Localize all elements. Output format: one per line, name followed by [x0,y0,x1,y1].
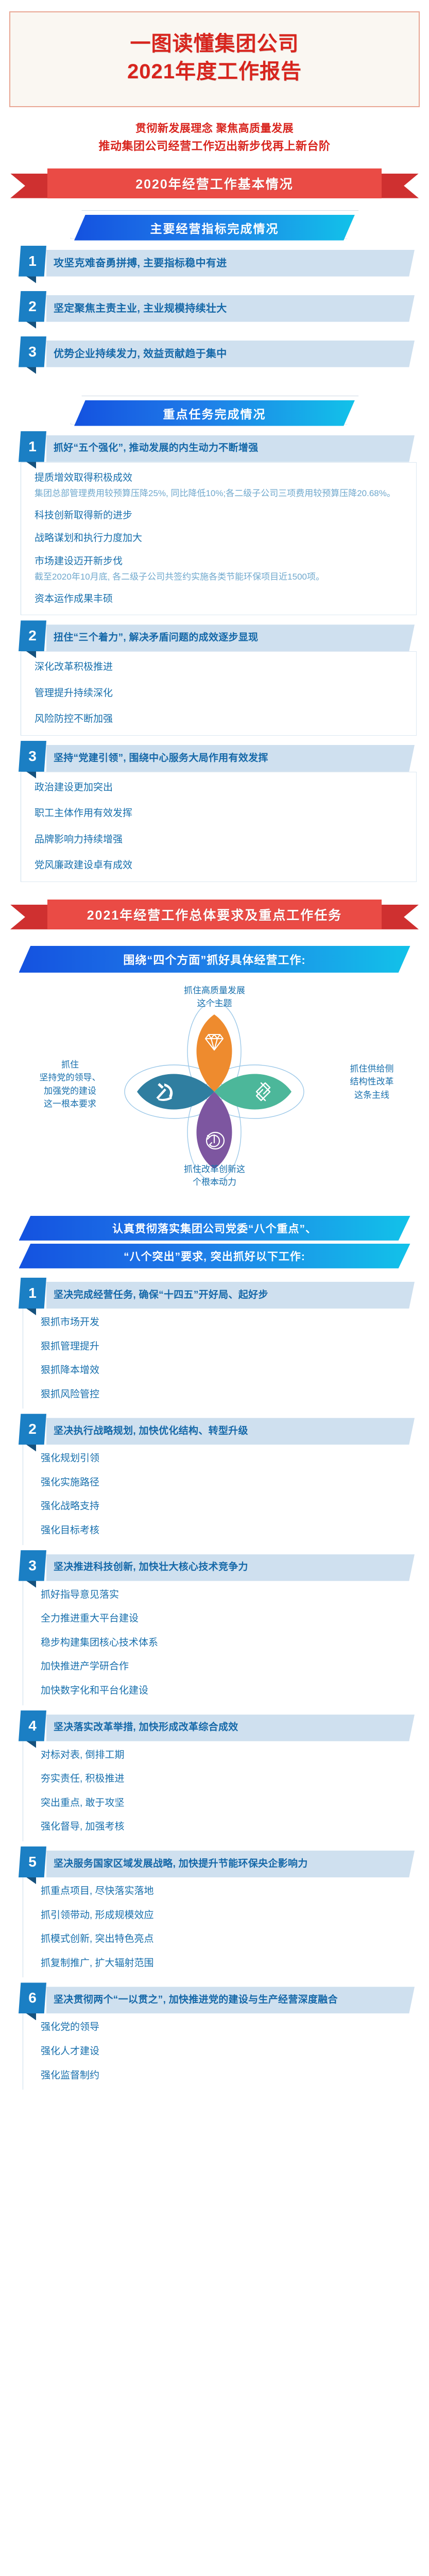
key-task-3: 3 坚持“党建引领”, 围绕中心服务大局作用有效发挥 政治建设更加突出 职工主体… [0,745,429,882]
work-task-6: 6 坚决贯彻两个“一以贯之”, 加快推进党的建设与生产经营深度融合 强化党的领导… [0,1987,429,2090]
key-task-2-label: 扭住“三个着力”, 解决矛盾问题的成效逐步显现 [54,632,258,645]
kpi-heading-label: 主要经营指标完成情况 [150,219,279,236]
detail-title: 市场建设迈开新步伐 [35,554,406,569]
work-task-2-number: 2 [19,1414,46,1445]
kpi-item-3: 3 优势企业持续发力, 效益贡献趋于集中 [0,341,429,367]
subtitle-line2: 推动集团公司经营工作迈出新步伐再上新台阶 [12,138,417,155]
work-task-5-label: 坚决服务国家区域发展战略, 加快提升节能环保央企影响力 [54,1858,308,1871]
infographic-page: 一图读懂集团公司 2021年度工作报告 贯彻新发展理念 聚焦高质量发展 推动集团… [0,11,429,2097]
work-task-1-label: 坚决完成经营任务, 确保“十四五”开好局、起好步 [54,1289,268,1302]
kpi-item-3-number: 3 [19,336,46,367]
list-item: 抓好指导意见落实 [41,1588,415,1602]
detail-title: 科技创新取得新的进步 [35,509,406,523]
key-task-2-details: 深化改革积极推进 管理提升持续深化 风险防控不断加强 [21,651,417,736]
list-item: 加快数字化和平台化建设 [41,1684,415,1698]
key-task-3-number: 3 [19,741,46,772]
key-task-1-label: 抓好“五个强化”, 推动发展的内生动力不断增强 [54,442,258,455]
kpi-item-1-number: 1 [19,246,46,277]
work-task-5-number: 5 [19,1846,46,1877]
detail-title: 深化改革积极推进 [35,660,406,675]
work-task-3-label: 坚决推进科技创新, 加快壮大核心技术竞争力 [54,1561,248,1574]
petal-bottom [197,1092,232,1169]
section-ribbon-2021: 2021年经营工作总体要求及重点工作任务 [0,900,429,930]
work-task-3-number: 3 [19,1550,46,1581]
key-task-1: 1 抓好“五个强化”, 推动发展的内生动力不断增强 提质增效取得积极成效 集团总… [0,435,429,616]
work-task-4-label: 坚决落实改革举措, 加快形成改革综合成效 [54,1721,238,1734]
detail-title: 职工主体作用有效发挥 [35,806,406,821]
petal-label-left: 抓住 坚持党的领导、 加强党的建设 这一根本要求 [13,1058,127,1111]
kpi-item-2: 2 坚定聚焦主责主业, 主业规模持续壮大 [0,295,429,322]
key-task-1-details: 提质增效取得积极成效 集团总部管理费用较预算压降25%, 同比降低10%;各二级… [21,462,417,616]
detail-body: 集团总部管理费用较预算压降25%, 同比降低10%;各二级子公司三项费用较预算压… [35,487,406,500]
list-item: 突出重点, 敢于攻坚 [41,1797,415,1810]
ribbon-body: 2020年经营工作基本情况 [47,168,382,198]
work-task-2-label: 坚决执行战略规划, 加快优化结构、转型升级 [54,1425,248,1438]
list-item: 加快推进产学研合作 [41,1660,415,1674]
detail-title: 管理提升持续深化 [35,686,406,701]
key-task-3-label: 坚持“党建引领”, 围绕中心服务大局作用有效发挥 [54,752,268,765]
list-item: 强化督导, 加强考核 [41,1820,415,1834]
work-task-2: 2 坚决执行战略规划, 加快优化结构、转型升级 强化规划引领 强化实施路径 强化… [0,1418,429,1545]
hero-banner: 一图读懂集团公司 2021年度工作报告 [9,11,420,107]
kpi-item-1: 1 攻坚克难奋勇拼搏, 主要指标稳中有进 [0,250,429,277]
petal-label-bottom: 抓住改革创新这 个根本动力 [184,1163,245,1189]
work-task-6-number: 6 [19,1982,46,2013]
work-task-2-bullets: 强化规划引领 强化实施路径 强化战略支持 强化目标考核 [23,1445,415,1545]
list-item: 抓复制推广, 扩大辐射范围 [41,1957,415,1971]
ribbon-2021-label: 2021年经营工作总体要求及重点工作任务 [87,905,342,924]
hero-title-line1: 一图读懂集团公司 [15,30,414,58]
key-task-2-number: 2 [19,620,46,651]
list-item: 全力推进重大平台建设 [41,1612,415,1626]
work-task-3: 3 坚决推进科技创新, 加快壮大核心技术竞争力 抓好指导意见落实 全力推进重大平… [0,1554,429,1705]
petal-label-right: 抓住供给侧 结构性改革 这条主线 [323,1062,421,1102]
kpi-item-1-label: 攻坚克难奋勇拼搏, 主要指标稳中有进 [54,257,227,270]
four-aspects-heading-label: 围绕“四个方面”抓好具体经营工作: [123,951,305,968]
key-tasks-heading-label: 重点任务完成情况 [163,404,266,422]
work-task-4-bullets: 对标对表, 倒排工期 夯实责任, 积极推进 突出重点, 敢于攻坚 强化督导, 加… [23,1741,415,1841]
detail-title: 品牌影响力持续增强 [35,833,406,848]
key-tasks-heading: 重点任务完成情况 [0,400,429,426]
ribbon-2020-label: 2020年经营工作基本情况 [135,174,294,193]
list-item: 强化规划引领 [41,1452,415,1466]
key-task-3-details: 政治建设更加突出 职工主体作用有效发挥 品牌影响力持续增强 党风廉政建设卓有成效 [21,772,417,882]
eight-points-heading-shape-2: “八个突出”要求, 突出抓好以下工作: [19,1244,410,1268]
list-item: 狠抓降本增效 [41,1364,415,1378]
petal-top [197,1014,232,1092]
detail-title: 风险防控不断加强 [35,712,406,727]
list-item: 强化实施路径 [41,1476,415,1490]
key-task-1-number: 1 [19,431,46,462]
eight-points-label-line1: 认真贯彻落实集团公司党委“八个重点”、 [112,1221,317,1236]
list-item: 狠抓市场开发 [41,1316,415,1330]
detail-title: 资本运作成果丰硕 [35,592,406,607]
work-task-1-number: 1 [19,1278,46,1309]
detail-body: 截至2020年10月底, 各二级子公司共签约实施各类节能环保项目近1500项。 [35,571,406,584]
key-task-2: 2 扭住“三个着力”, 解决矛盾问题的成效逐步显现 深化改革积极推进 管理提升持… [0,624,429,736]
list-item: 强化战略支持 [41,1500,415,1514]
list-item: 狠抓风险管控 [41,1388,415,1402]
work-task-4: 4 坚决落实改革举措, 加快形成改革综合成效 对标对表, 倒排工期 夯实责任, … [0,1715,429,1841]
work-task-4-number: 4 [19,1710,46,1741]
list-item: 抓引领带动, 形成规模效应 [41,1909,415,1923]
detail-title: 政治建设更加突出 [35,781,406,795]
four-aspects-heading: 围绕“四个方面”抓好具体经营工作: [0,946,429,973]
subtitle-block: 贯彻新发展理念 聚焦高质量发展 推动集团公司经营工作迈出新步伐再上新台阶 [0,121,429,155]
work-task-3-bullets: 抓好指导意见落实 全力推进重大平台建设 稳步构建集团核心技术体系 加快推进产学研… [23,1581,415,1705]
section-ribbon-2020: 2020年经营工作基本情况 [0,168,429,199]
kpi-heading-shape: 主要经营指标完成情况 [74,215,355,241]
kpi-item-2-number: 2 [19,291,46,322]
list-item: 抓重点项目, 尽快落实落地 [41,1885,415,1899]
detail-title: 战略谋划和执行力度加大 [35,531,406,546]
key-tasks-heading-shape: 重点任务完成情况 [74,400,355,426]
list-item: 稳步构建集团核心技术体系 [41,1636,415,1650]
eight-points-label-line2: “八个突出”要求, 突出抓好以下工作: [124,1248,305,1264]
ribbon-body: 2021年经营工作总体要求及重点工作任务 [47,900,382,929]
work-task-1-bullets: 狠抓市场开发 狠抓管理提升 狠抓降本增效 狠抓风险管控 [23,1309,415,1409]
list-item: 抓模式创新, 突出特色亮点 [41,1933,415,1946]
petal-left [137,1074,214,1109]
work-task-6-label: 坚决贯彻两个“一以贯之”, 加快推进党的建设与生产经营深度融合 [54,1994,338,2007]
petal-right [214,1074,291,1109]
subtitle-line1: 贯彻新发展理念 聚焦高质量发展 [12,121,417,138]
kpi-item-3-label: 优势企业持续发力, 效益贡献趋于集中 [54,347,227,361]
four-petal-diagram: 抓住高质量发展 这个主题 抓住 坚持党的领导、 加强党的建设 这一根本要求 抓住… [0,981,429,1202]
list-item: 夯实责任, 积极推进 [41,1772,415,1786]
work-task-5-bullets: 抓重点项目, 尽快落实落地 抓引领带动, 形成规模效应 抓模式创新, 突出特色亮… [23,1877,415,1977]
list-item: 强化目标考核 [41,1524,415,1538]
work-task-6-bullets: 强化党的领导 强化人才建设 强化监督制约 [23,2013,415,2090]
list-item: 狠抓管理提升 [41,1340,415,1354]
eight-points-heading: 认真贯彻落实集团公司党委“八个重点”、 “八个突出”要求, 突出抓好以下工作: [0,1216,429,1268]
list-item: 强化人才建设 [41,2045,415,2059]
work-task-5: 5 坚决服务国家区域发展战略, 加快提升节能环保央企影响力 抓重点项目, 尽快落… [0,1851,429,1977]
four-aspects-heading-shape: 围绕“四个方面”抓好具体经营工作: [19,946,410,973]
kpi-heading: 主要经营指标完成情况 [0,215,429,241]
list-item: 强化党的领导 [41,2021,415,2035]
eight-points-heading-shape-1: 认真贯彻落实集团公司党委“八个重点”、 [19,1216,410,1241]
detail-title: 党风廉政建设卓有成效 [35,858,406,873]
work-task-1: 1 坚决完成经营任务, 确保“十四五”开好局、起好步 狠抓市场开发 狠抓管理提升… [0,1282,429,1409]
petal-label-top: 抓住高质量发展 这个主题 [184,984,245,1010]
detail-title: 提质增效取得积极成效 [35,471,406,486]
kpi-item-2-label: 坚定聚焦主责主业, 主业规模持续壮大 [54,302,227,315]
list-item: 强化监督制约 [41,2069,415,2083]
hero-title-line2: 2021年度工作报告 [15,58,414,86]
list-item: 对标对表, 倒排工期 [41,1749,415,1762]
